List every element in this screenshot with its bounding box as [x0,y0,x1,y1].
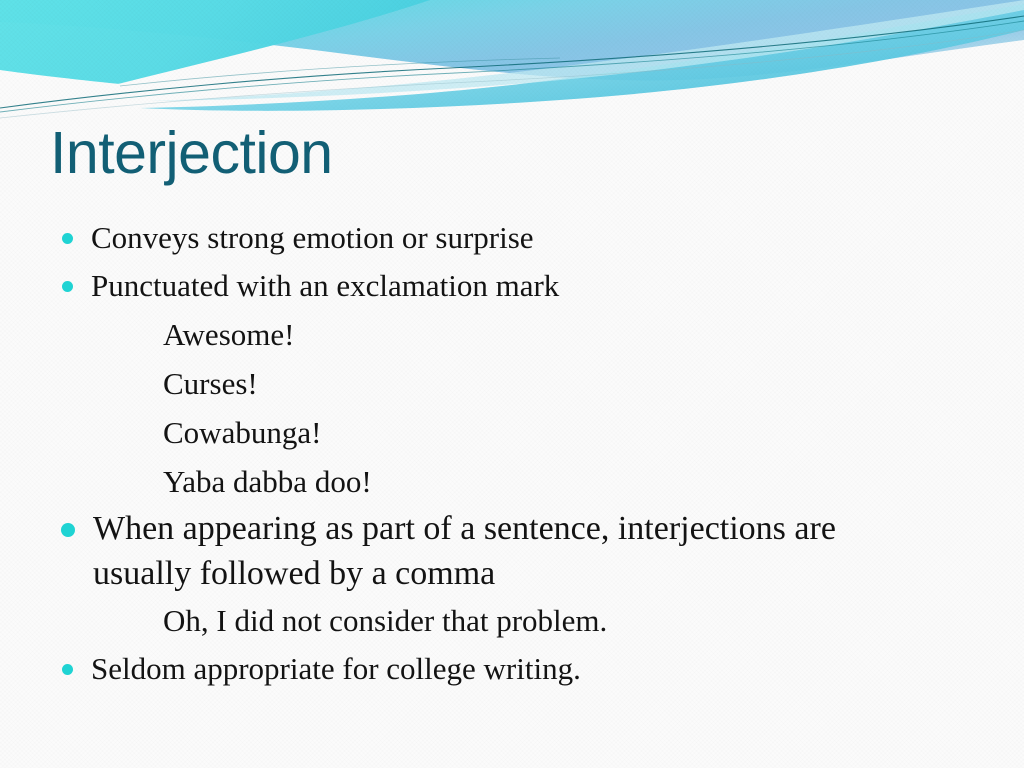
bullet-item: Conveys strong emotion or surprise [0,214,960,262]
bullet-dot-icon [62,281,73,292]
bullet-text: Seldom appropriate for college writing. [91,651,581,686]
example-text: Oh, I did not consider that problem. [163,603,607,638]
bullet-dot-icon [62,233,73,244]
bullet-dot-icon [61,523,75,537]
bullet-item: When appearing as part of a sentence, in… [0,506,960,596]
wave-header-graphic [0,0,1024,130]
example-item: Cowabunga! [0,408,960,457]
presentation-slide: Interjection Conveys strong emotion or s… [0,0,1024,768]
slide-body-content: Conveys strong emotion or surprise Punct… [0,214,960,693]
bullet-text: Conveys strong emotion or surprise [91,220,534,255]
bullet-item: Seldom appropriate for college writing. [0,645,960,693]
slide-title: Interjection [50,122,333,186]
example-text: Yaba dabba doo! [163,464,372,499]
example-item: Curses! [0,359,960,408]
example-item: Oh, I did not consider that problem. [0,596,960,645]
example-item: Awesome! [0,310,960,359]
bullet-text: Punctuated with an exclamation mark [91,268,559,303]
bullet-item: Punctuated with an exclamation mark [0,262,960,310]
example-text: Cowabunga! [163,415,321,450]
example-text: Awesome! [163,317,294,352]
example-text: Curses! [163,366,258,401]
bullet-text: When appearing as part of a sentence, in… [93,510,836,592]
bullet-dot-icon [62,664,73,675]
example-item: Yaba dabba doo! [0,457,960,506]
